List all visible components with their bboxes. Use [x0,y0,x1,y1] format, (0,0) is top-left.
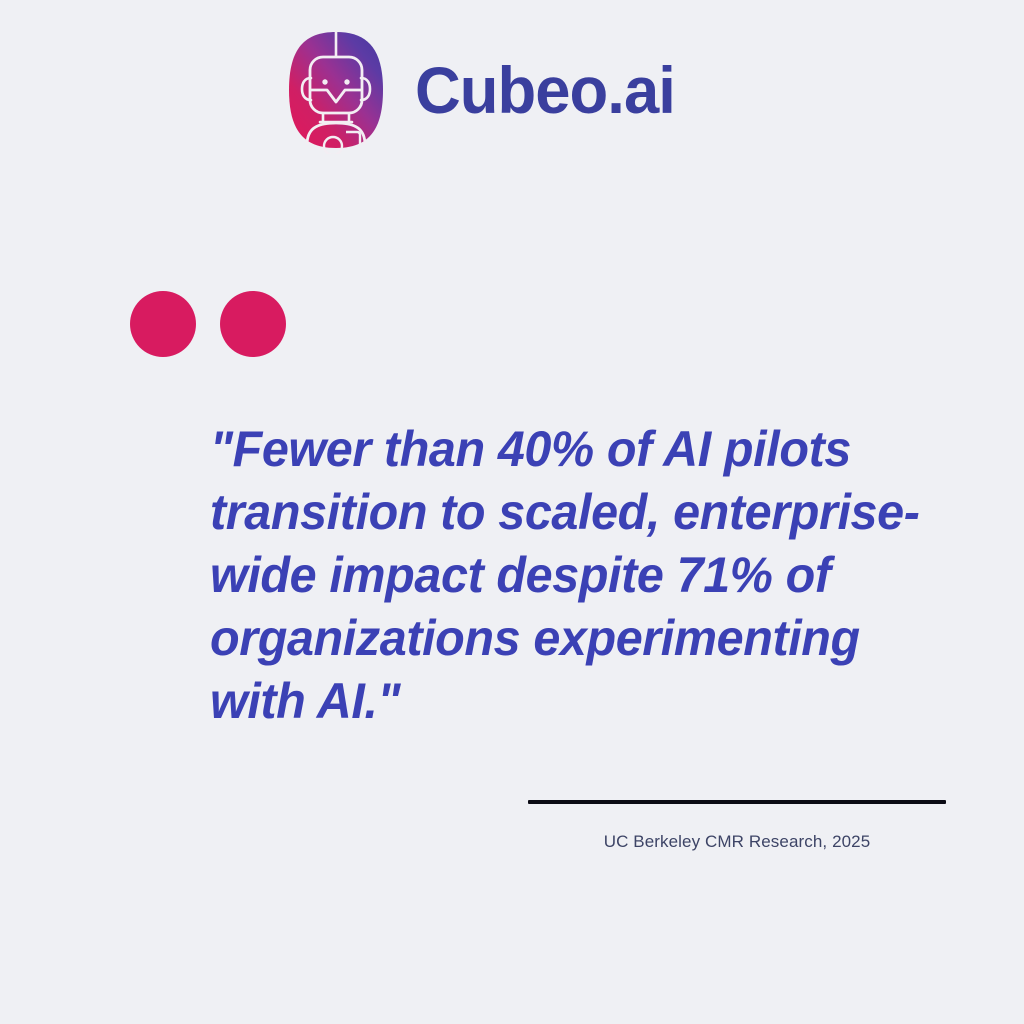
decorative-dot-1 [130,291,196,357]
decorative-dot-2 [220,291,286,357]
brand-header: Cubeo.ai [283,26,686,154]
decorative-dots [130,291,286,357]
attribution: UC Berkeley CMR Research, 2025 [528,800,946,852]
brand-wordmark: Cubeo.ai [415,57,675,123]
quote-card: Cubeo.ai "Fewer than 40% of AI pilots tr… [0,0,1024,1024]
attribution-source: UC Berkeley CMR Research, 2025 [528,832,946,852]
quote-text: "Fewer than 40% of AI pilots transition … [210,418,947,733]
attribution-divider [528,800,946,804]
robot-icon [283,26,389,154]
